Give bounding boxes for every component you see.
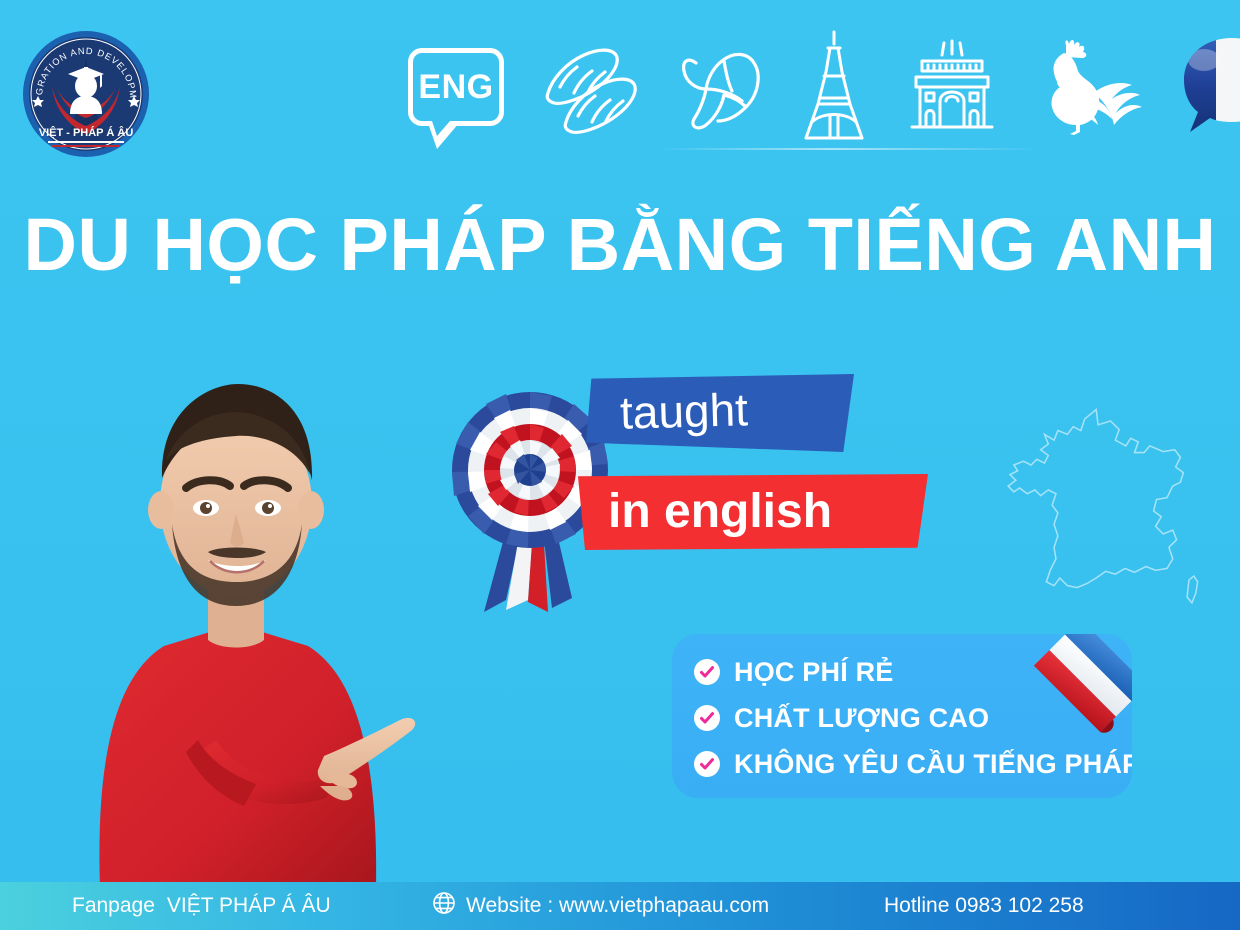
eng-label: ENG [408, 48, 504, 126]
footer-bar: Fanpage VIỆT PHÁP Á ÂU Website : www.vie… [0, 882, 1240, 930]
list-item: CHẤT LƯỢNG CAO [694, 696, 1122, 740]
eiffel-tower-icon [794, 28, 874, 146]
eng-speech-bubble-icon: ENG [408, 48, 504, 126]
france-map-outline [985, 398, 1215, 623]
promotional-banner: INTEGRATION AND DEVELOPMENT VIỆT - PHÁP … [0, 0, 1240, 930]
croissant-icon [674, 39, 768, 135]
fanpage-value: VIỆT PHÁP Á ÂU [167, 894, 331, 918]
globe-icon [432, 891, 456, 921]
taught-banner: taught [586, 374, 854, 452]
footer-fanpage: Fanpage VIỆT PHÁP Á ÂU [72, 894, 331, 918]
features-list: HỌC PHÍ RẺ CHẤT LƯỢNG CAO KHÔNG YÊU CẦU … [694, 650, 1122, 788]
taught-label: taught [619, 382, 748, 440]
feature-text: HỌC PHÍ RẺ [734, 657, 894, 688]
check-circle-icon [694, 659, 720, 685]
page-title: DU HỌC PHÁP BẰNG TIẾNG ANH [0, 206, 1240, 284]
website-text: Website : www.vietphapaau.com [466, 894, 769, 918]
arc-de-triomphe-icon [900, 39, 1004, 135]
baguette-icon [530, 35, 648, 139]
list-item: KHÔNG YÊU CẦU TIẾNG PHÁP [694, 742, 1122, 786]
features-card: HỌC PHÍ RẺ CHẤT LƯỢNG CAO KHÔNG YÊU CẦU … [672, 634, 1132, 798]
feature-text: KHÔNG YÊU CẦU TIẾNG PHÁP [734, 749, 1132, 780]
footer-hotline: Hotline 0983 102 258 [884, 894, 1084, 918]
french-flag-bubble-icon [1178, 32, 1240, 142]
fanpage-label: Fanpage [72, 894, 155, 918]
logo-bottom-text: VIỆT - PHÁP Á ÂU [39, 126, 134, 139]
check-circle-icon [694, 705, 720, 731]
list-item: HỌC PHÍ RẺ [694, 650, 1122, 694]
in-english-banner: in english [578, 474, 928, 550]
footer-website[interactable]: Website : www.vietphapaau.com [432, 891, 769, 921]
gallic-rooster-icon [1030, 35, 1152, 139]
icon-row-divider [660, 148, 1040, 150]
culture-icon-row: ENG [408, 28, 1240, 146]
check-circle-icon [694, 751, 720, 777]
in-english-label: in english [608, 484, 832, 539]
person-photo [40, 328, 480, 888]
feature-text: CHẤT LƯỢNG CAO [734, 703, 989, 734]
logo-seal: INTEGRATION AND DEVELOPMENT VIỆT - PHÁP … [22, 30, 150, 158]
